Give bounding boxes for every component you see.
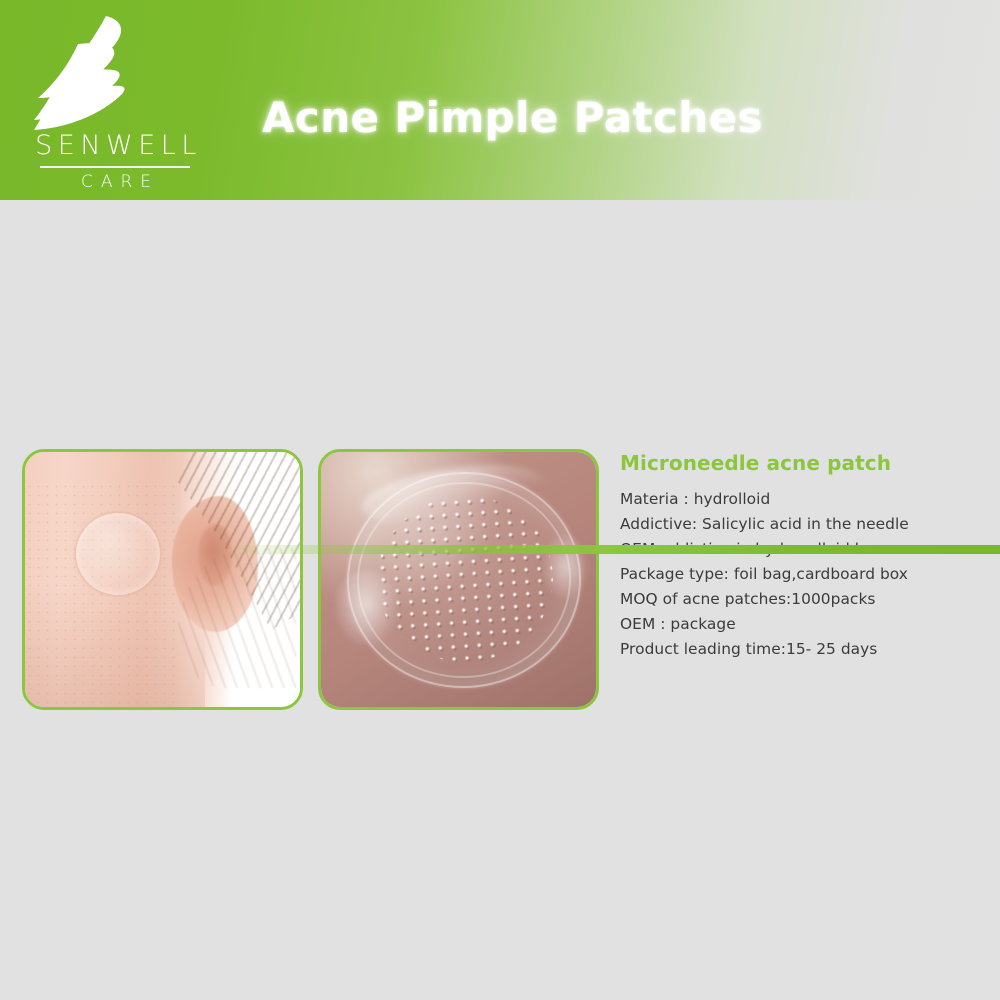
flame-leaf-logo-icon: [34, 14, 164, 132]
section-divider: [0, 545, 1000, 554]
section-microneedle: Microneedle acne patch Materia : hydroll…: [0, 200, 1000, 545]
spec-item: Addictive: Salicylic acid in the needle: [620, 512, 990, 537]
brand-name: SENWELL: [30, 132, 202, 159]
spec-heading-microneedle: Microneedle acne patch: [620, 452, 990, 474]
brand-logo: SENWELL CARE: [26, 14, 206, 192]
section-regular: Regular acne patch Materia : hydrocolloi…: [0, 565, 1000, 925]
page-title: Acne Pimple Patches: [262, 93, 763, 142]
page-header: SENWELL CARE Acne Pimple Patches: [0, 0, 1000, 200]
product-marketing-page: SENWELL CARE Acne Pimple Patches: [0, 0, 1000, 1000]
brand-tagline: CARE: [30, 172, 202, 192]
spec-item: Materia : hydrolloid: [620, 487, 990, 512]
brand-divider: [40, 166, 190, 168]
